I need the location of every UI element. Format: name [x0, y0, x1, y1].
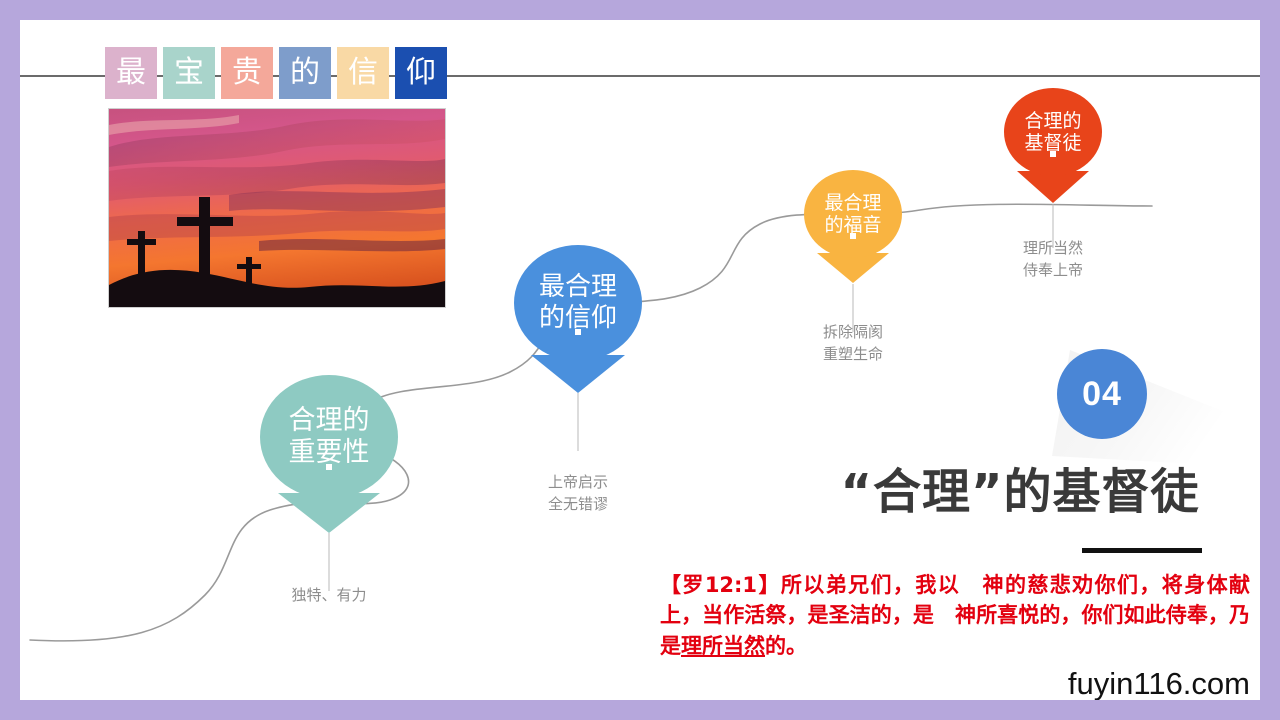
crosses-sunset-photo [108, 108, 446, 308]
section-number-badge: 04 [1057, 349, 1147, 439]
pin-christian-caption: 理所当然 侍奉上帝 [983, 238, 1123, 282]
pin-faith-line2: 的信仰 [539, 303, 617, 334]
pin-gospel-bulb: 最合理 的福音 [804, 170, 902, 258]
pin-gospel-caption: 拆除隔阂 重塑生命 [783, 322, 923, 366]
pin-faith-bulb: 最合理 的信仰 [514, 245, 642, 361]
slide-title: 最 宝 贵 的 信 仰 [105, 47, 447, 99]
pin-importance-tip [260, 493, 398, 533]
slide-canvas: 最 宝 贵 的 信 仰 [20, 20, 1260, 700]
title-char-5: 仰 [395, 47, 447, 99]
pin-faith-caption: 上帝启示 全无错谬 [498, 472, 658, 516]
pin-importance-stem [329, 533, 330, 591]
title-char-0: 最 [105, 47, 157, 99]
pin-christian-bulb: 合理的 基督徒 [1004, 88, 1102, 176]
heading-underline-bar [1082, 548, 1202, 553]
pin-gospel-line2: 的福音 [824, 214, 881, 236]
pin-faith[interactable]: 最合理 的信仰 [514, 245, 642, 393]
pin-importance-line1: 合理的 [289, 405, 370, 437]
pin-gospel[interactable]: 最合理 的福音 [804, 170, 902, 283]
pin-importance-line2: 重要性 [289, 437, 370, 469]
photo-artwork [109, 109, 445, 307]
bible-verse: 【罗12:1】所以弟兄们，我以 神的慈悲劝你们，将身体献上，当作活祭，是圣洁的，… [660, 570, 1250, 661]
title-char-2: 贵 [221, 47, 273, 99]
pin-christian-line1: 合理的 [1024, 110, 1081, 132]
pin-importance-caption: 独特、有力 [249, 585, 409, 607]
site-watermark: fuyin116.com [1064, 664, 1254, 700]
title-char-4: 信 [337, 47, 389, 99]
pin-faith-stem [578, 393, 579, 451]
pin-importance[interactable]: 合理的 重要性 [260, 375, 398, 533]
pin-christian[interactable]: 合理的 基督徒 [1004, 88, 1102, 203]
pin-faith-line1: 最合理 [539, 272, 617, 303]
verse-underlined-phrase: 理所当然 [681, 634, 765, 658]
verse-body-part2: 的。 [765, 634, 807, 658]
pin-importance-bulb: 合理的 重要性 [260, 375, 398, 499]
title-char-3: 的 [279, 47, 331, 99]
verse-reference: 【罗12:1】 [660, 573, 781, 597]
title-char-1: 宝 [163, 47, 215, 99]
pin-gospel-line1: 最合理 [824, 192, 881, 214]
page-title: “合理”的基督徒 [790, 452, 1250, 522]
pin-christian-line2: 基督徒 [1024, 132, 1081, 154]
